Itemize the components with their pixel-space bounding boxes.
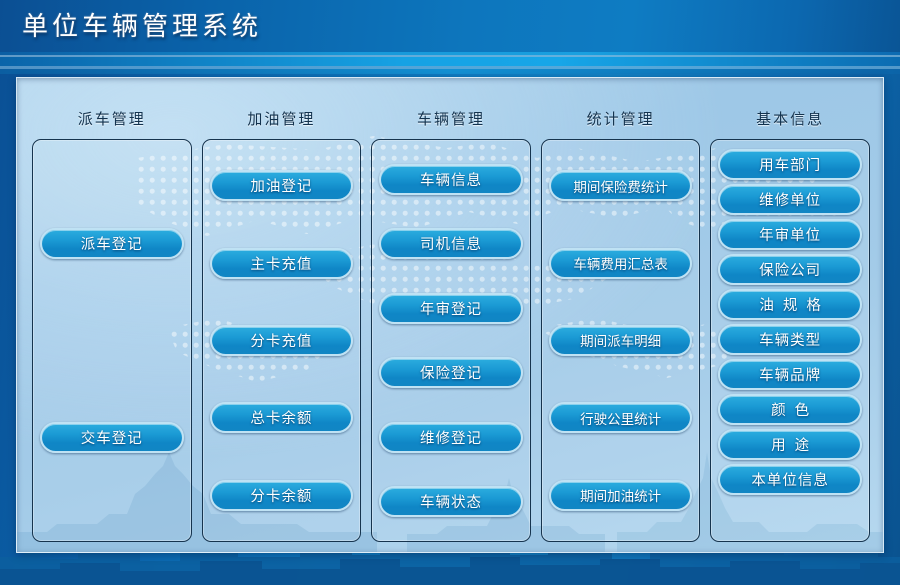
column-group-box: 用车部门维修单位年审单位保险公司油规格车辆类型车辆品牌颜色用途本单位信息 xyxy=(710,139,870,542)
menu-button[interactable]: 油规格 xyxy=(718,289,862,320)
menu-button[interactable]: 分卡余额 xyxy=(210,480,354,511)
column-header: 车辆管理 xyxy=(417,108,485,129)
main-content-panel: 派车管理派车登记交车登记加油管理加油登记主卡充值分卡充值总卡余额分卡余额车辆管理… xyxy=(16,77,884,553)
menu-column-4: 统计管理期间保险费统计车辆费用汇总表期间派车明细行驶公里统计期间加油统计 xyxy=(536,108,706,542)
titlebar-divider-5 xyxy=(0,69,900,74)
menu-button[interactable]: 用车部门 xyxy=(718,149,862,180)
menu-button[interactable]: 车辆状态 xyxy=(379,486,523,517)
menu-column-2: 加油管理加油登记主卡充值分卡充值总卡余额分卡余额 xyxy=(197,108,367,542)
menu-button[interactable]: 期间加油统计 xyxy=(549,480,693,511)
title-bar: 单位车辆管理系统 xyxy=(0,0,900,52)
menu-button[interactable]: 年审单位 xyxy=(718,219,862,250)
column-header: 派车管理 xyxy=(78,108,146,129)
menu-button[interactable]: 车辆信息 xyxy=(379,164,523,195)
menu-columns: 派车管理派车登记交车登记加油管理加油登记主卡充值分卡充值总卡余额分卡余额车辆管理… xyxy=(17,78,884,553)
menu-button[interactable]: 维修单位 xyxy=(718,184,862,215)
menu-button[interactable]: 司机信息 xyxy=(379,228,523,259)
menu-button[interactable]: 颜色 xyxy=(718,394,862,425)
menu-button[interactable]: 年审登记 xyxy=(379,293,523,324)
column-header: 统计管理 xyxy=(587,108,655,129)
menu-button[interactable]: 主卡充值 xyxy=(210,248,354,279)
column-header: 基本信息 xyxy=(756,108,824,129)
column-header: 加油管理 xyxy=(247,108,315,129)
menu-button[interactable]: 用途 xyxy=(718,429,862,460)
menu-button[interactable]: 维修登记 xyxy=(379,422,523,453)
menu-button[interactable]: 总卡余额 xyxy=(210,402,354,433)
menu-button[interactable]: 车辆类型 xyxy=(718,324,862,355)
menu-button[interactable]: 保险公司 xyxy=(718,254,862,285)
menu-button[interactable]: 派车登记 xyxy=(40,228,184,259)
menu-button[interactable]: 本单位信息 xyxy=(718,464,862,495)
menu-button[interactable]: 分卡充值 xyxy=(210,325,354,356)
menu-column-1: 派车管理派车登记交车登记 xyxy=(27,108,197,542)
menu-button[interactable]: 交车登记 xyxy=(40,422,184,453)
page-title: 单位车辆管理系统 xyxy=(22,6,262,43)
menu-column-3: 车辆管理车辆信息司机信息年审登记保险登记维修登记车辆状态 xyxy=(366,108,536,542)
column-group-box: 期间保险费统计车辆费用汇总表期间派车明细行驶公里统计期间加油统计 xyxy=(541,139,701,542)
menu-button[interactable]: 行驶公里统计 xyxy=(549,402,693,433)
menu-button[interactable]: 车辆费用汇总表 xyxy=(549,248,693,279)
application-window: 单位车辆管理系统 xyxy=(0,0,900,585)
menu-button[interactable]: 保险登记 xyxy=(379,357,523,388)
column-group-box: 派车登记交车登记 xyxy=(32,139,192,542)
column-group-box: 车辆信息司机信息年审登记保险登记维修登记车辆状态 xyxy=(371,139,531,542)
titlebar-divider-3 xyxy=(0,57,900,66)
menu-column-5: 基本信息用车部门维修单位年审单位保险公司油规格车辆类型车辆品牌颜色用途本单位信息 xyxy=(705,108,875,542)
menu-button[interactable]: 车辆品牌 xyxy=(718,359,862,390)
menu-button[interactable]: 期间派车明细 xyxy=(549,325,693,356)
column-group-box: 加油登记主卡充值分卡充值总卡余额分卡余额 xyxy=(202,139,362,542)
menu-button[interactable]: 期间保险费统计 xyxy=(549,170,693,201)
menu-button[interactable]: 加油登记 xyxy=(210,170,354,201)
